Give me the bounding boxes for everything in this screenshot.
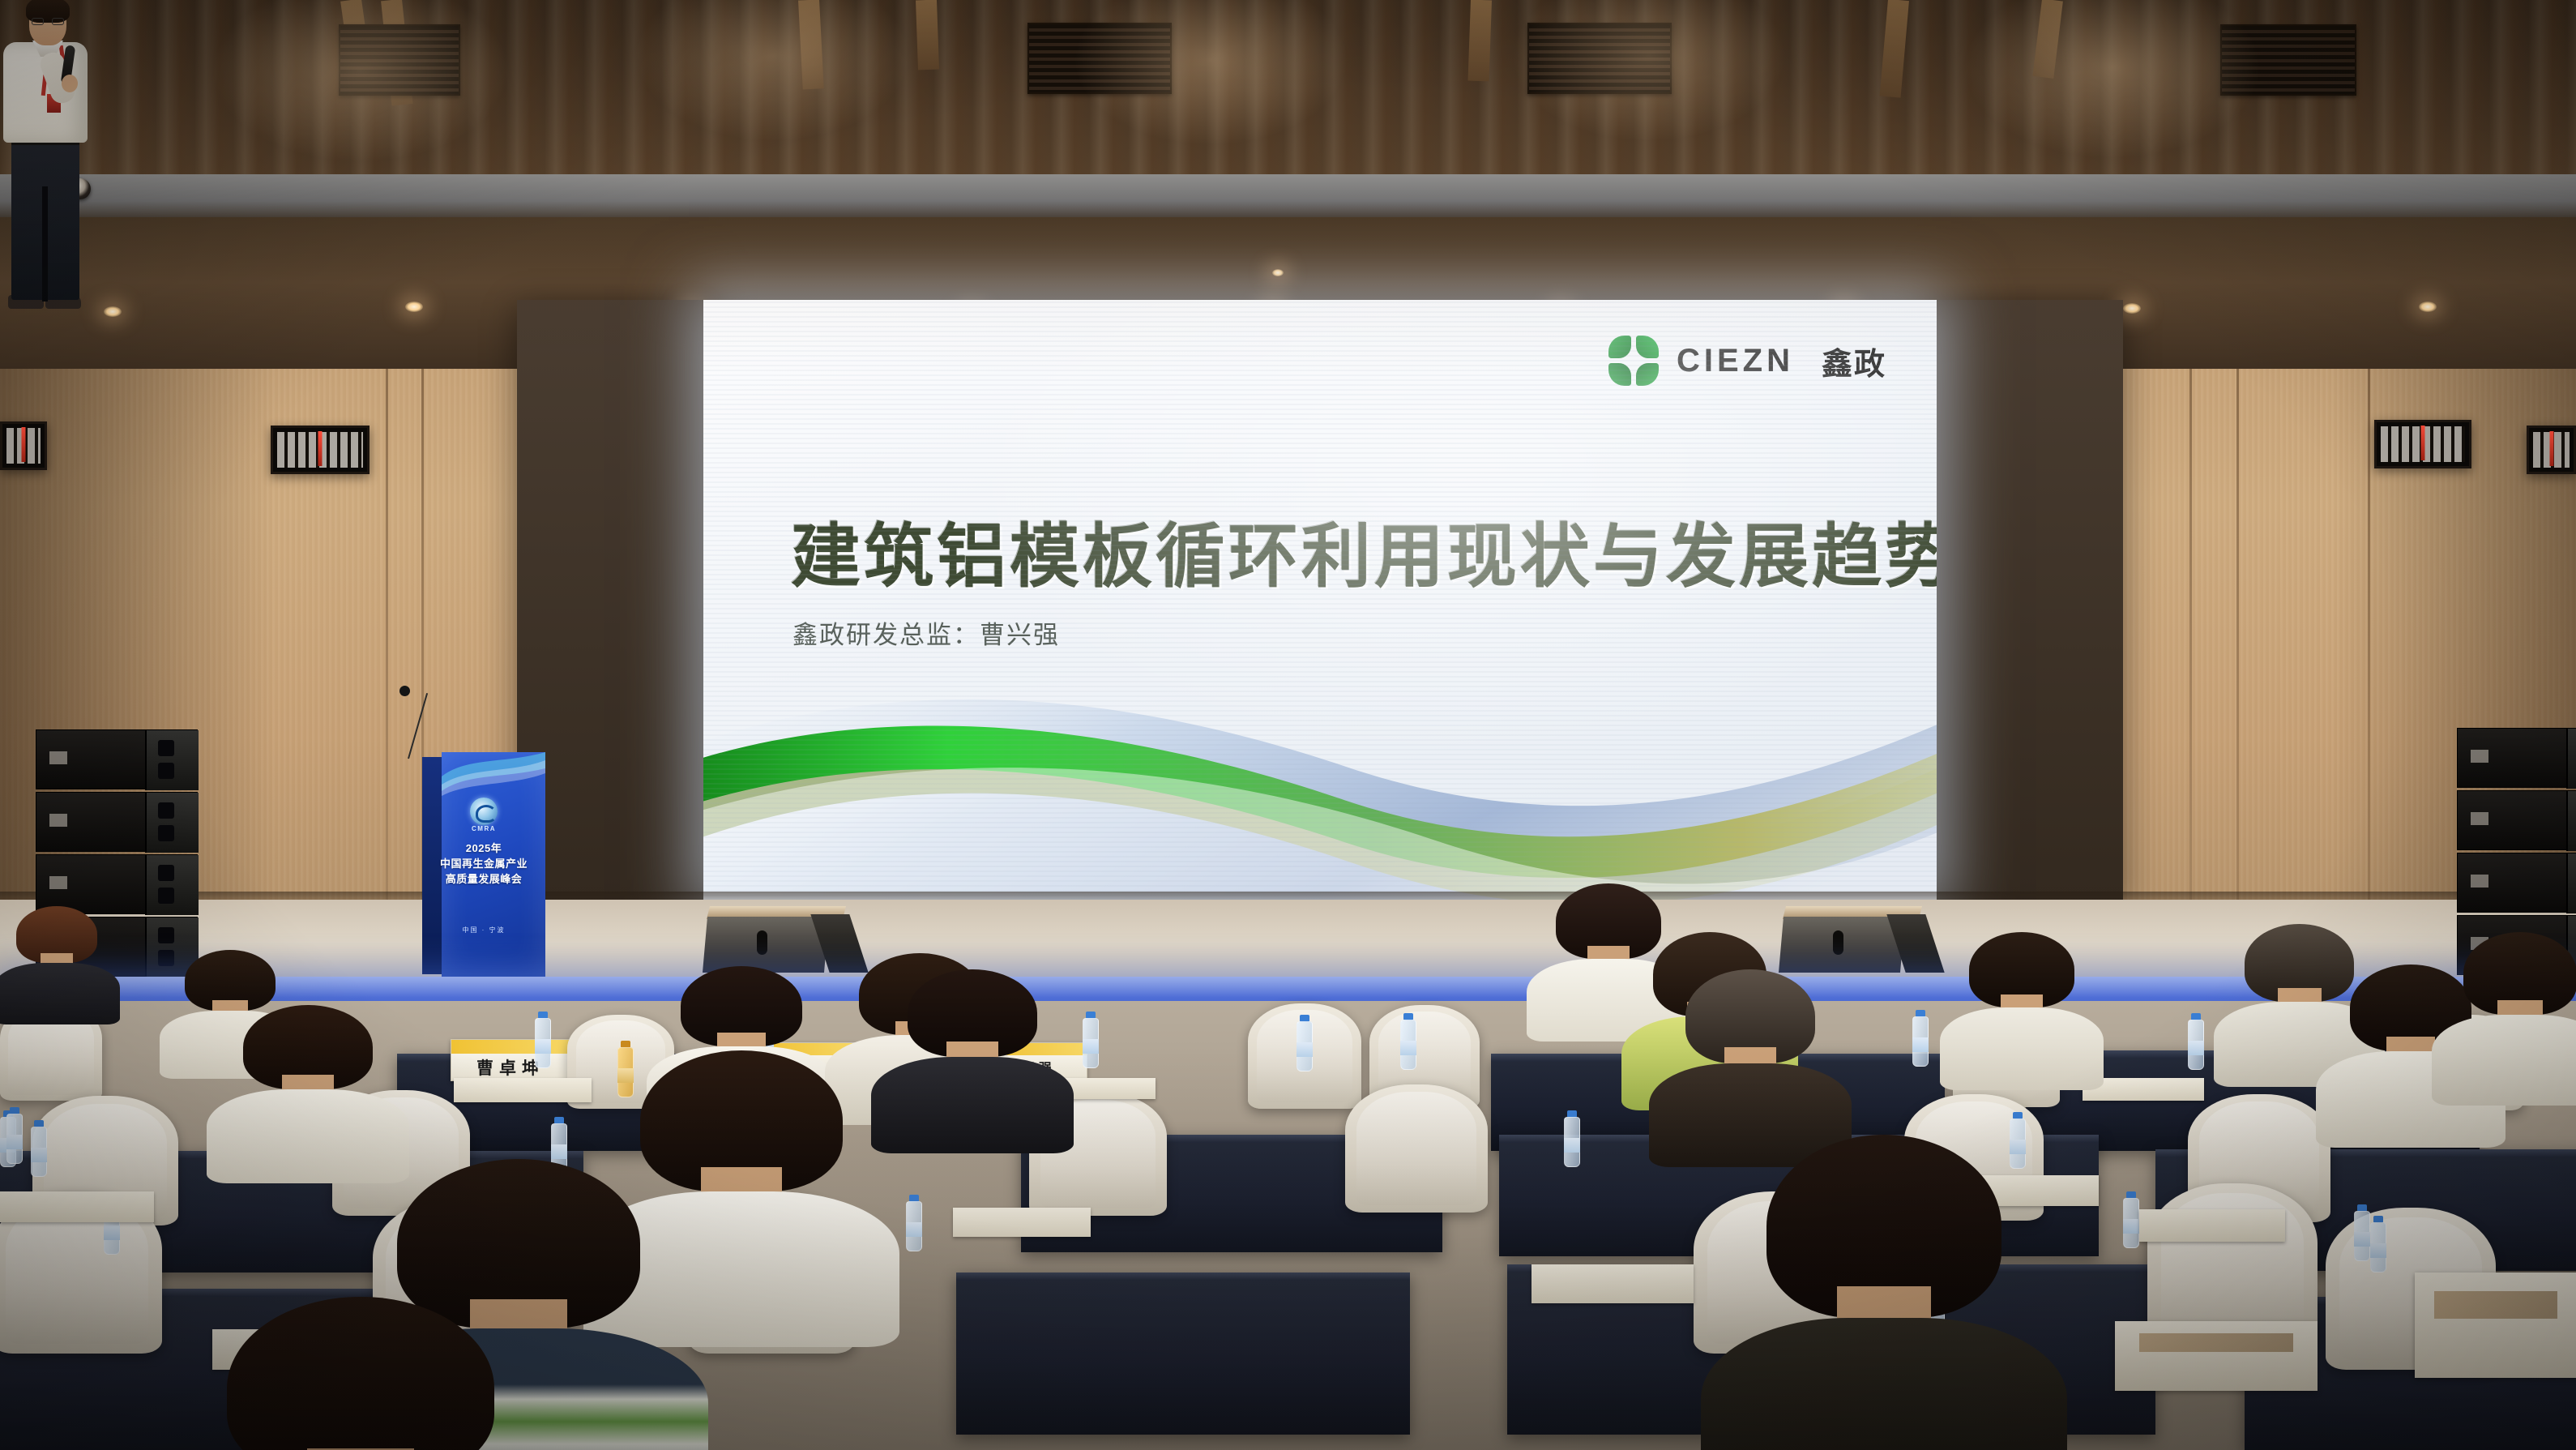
podium-wave-graphic	[442, 752, 545, 796]
audience-torso	[871, 1057, 1074, 1153]
podium-line-summit: 高质量发展峰会	[431, 872, 536, 888]
stage-led-screen: CIEZN 鑫政 建筑铝模板循环利用现状与发展趋势 鑫政研发总监：曹兴强	[517, 300, 2123, 900]
presentation-slide: CIEZN 鑫政 建筑铝模板循环利用现状与发展趋势 鑫政研发总监：曹兴强	[703, 300, 1937, 900]
ceiling-downlight	[104, 306, 122, 317]
screen-side-panel-right	[1937, 300, 2123, 900]
table-name-card: 曹卓坤	[451, 1039, 570, 1081]
speaker-box	[36, 729, 198, 789]
booklet-cover-art	[2139, 1333, 2293, 1351]
podium-location-text: 中国 · 宁波	[462, 926, 505, 935]
speaker-box	[2457, 728, 2576, 788]
audience-chair	[1345, 1084, 1488, 1213]
ciezn-pinwheel-logo-icon	[1608, 336, 1659, 386]
audience-torso	[1701, 1318, 2067, 1450]
stage-monitor-right	[1781, 906, 1935, 973]
lectern-podium: CMRA 2025年 中国再生金属产业 高质量发展峰会 中国 · 宁波	[422, 752, 545, 979]
brand-chinese-name: 鑫政	[1822, 339, 1886, 383]
audience-member	[2245, 924, 2354, 1058]
podium-event-title: 2025年 中国再生金属产业 高质量发展峰会	[431, 841, 536, 888]
podium-microphone-head	[399, 686, 410, 696]
name-card-strip	[451, 1040, 570, 1054]
audience-member	[1685, 969, 1815, 1131]
audience-member	[1556, 883, 1661, 1013]
wall-louvered-panel	[2527, 426, 2576, 474]
conference-hall-photo: CIEZN 鑫政 建筑铝模板循环利用现状与发展趋势 鑫政研发总监：曹兴强	[0, 0, 2576, 1450]
audience-member	[16, 906, 97, 1003]
audience-member	[2463, 932, 2576, 1074]
ceiling-downlight	[405, 302, 423, 312]
audience-member	[908, 969, 1037, 1120]
ceiling-cove-soffit	[0, 174, 2576, 223]
name-card-name: 曹卓坤	[451, 1054, 570, 1080]
wall-louvered-panel	[271, 426, 370, 474]
presenter-hand	[62, 75, 78, 92]
ceiling-downlight	[2123, 303, 2141, 314]
podium-line-year: 2025年	[431, 841, 536, 857]
stage-led-highlight	[0, 977, 2576, 998]
booklet-cover-art	[2434, 1291, 2557, 1319]
ceiling-downlight	[2419, 302, 2437, 312]
notepad	[2139, 1209, 2285, 1242]
cmra-wordmark: CMRA	[472, 825, 496, 832]
notepad	[1532, 1264, 1694, 1303]
stage-monitor-left	[705, 906, 859, 973]
eyeglasses-icon	[32, 18, 64, 25]
audience-member	[1766, 1135, 2001, 1450]
audience-torso	[2432, 1015, 2576, 1106]
audience-member	[640, 1050, 843, 1294]
speaker-box	[36, 854, 198, 914]
speaker-box	[36, 792, 198, 852]
notepad	[953, 1208, 1091, 1237]
notepad	[0, 1191, 154, 1222]
audience-member	[227, 1297, 494, 1450]
audience-table	[956, 1272, 1410, 1435]
speaker-box	[2457, 790, 2576, 850]
wall-louvered-panel	[0, 421, 47, 470]
presenter-leg-gap	[42, 186, 48, 302]
conference-booklet	[2115, 1321, 2318, 1391]
slide-subtitle: 鑫政研发总监：曹兴强	[792, 614, 1060, 651]
audience-hair	[227, 1297, 494, 1450]
audience-member	[1969, 932, 2074, 1062]
ceiling-downlight	[1272, 269, 1284, 276]
audience-torso	[0, 963, 120, 1025]
audience-torso	[207, 1089, 409, 1183]
podium-line-org: 中国再生金属产业	[431, 857, 536, 872]
audience-member	[243, 1005, 373, 1151]
brand-latin-name: CIEZN	[1677, 343, 1794, 379]
speaker-box	[2457, 853, 2576, 913]
conference-booklet	[2415, 1272, 2576, 1378]
ceiling-cove-light-wash	[0, 0, 2576, 186]
wall-louvered-panel	[2374, 420, 2471, 468]
notepad	[454, 1078, 592, 1102]
slide-title: 建筑铝模板循环利用现状与发展趋势	[791, 499, 1937, 601]
cmra-logo-icon	[470, 798, 498, 825]
audience-torso	[1940, 1007, 2104, 1090]
slide-brand-logo: CIEZN 鑫政	[1608, 336, 1886, 386]
